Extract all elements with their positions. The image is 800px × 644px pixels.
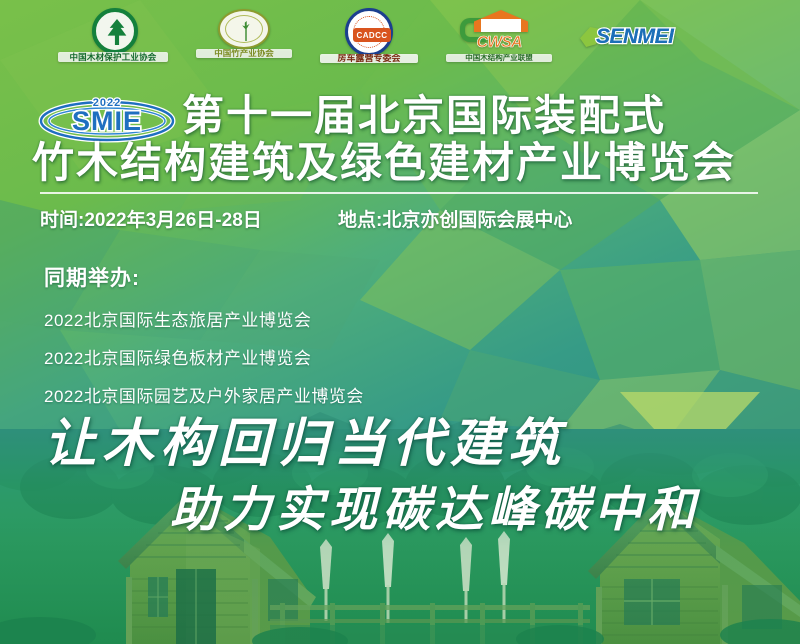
event-venue: 地点:北京亦创国际会展中心 — [338, 205, 572, 232]
logo-4-acronym: CWSA — [446, 34, 552, 52]
slogan-line-1: 让木构回归当代建筑 — [44, 418, 566, 470]
logo-cwsa-wood-structure-alliance: CWSA 中国木结构产业联盟 — [446, 8, 552, 70]
event-meta: 时间:2022年3月26日-28日 地点:北京亦创国际会展中心 — [40, 205, 760, 231]
headline-line-2: 竹木结构建筑及绿色建材产业博览会 — [32, 142, 792, 184]
logo-5-acronym: SENMEI — [596, 25, 674, 49]
poster-canvas: 中国木材保护工业协会 中国竹产业协会 CADCC 房车露营专委会 CWSA 中国… — [0, 0, 800, 644]
logo-senmei: SENMEI SENMEI — [580, 19, 692, 59]
concurrent-event-item: 2022北京国际园艺及户外家居产业博览会 — [44, 382, 564, 407]
logo-china-wood-protection-association: 中国木材保护工业协会 — [58, 8, 168, 70]
headline-divider — [40, 192, 758, 194]
headline-line-1: 第十一届北京国际装配式 — [182, 95, 792, 137]
concurrent-events-title: 同期举办: — [44, 262, 564, 292]
logo-3-acronym: CADCC — [353, 28, 391, 42]
event-date: 时间:2022年3月26日-28日 — [40, 205, 262, 232]
cadcc-roundel-icon: CADCC — [345, 8, 393, 56]
svg-text:SMIE: SMIE — [72, 106, 142, 136]
logo-3-label: 房车露营专委会 — [320, 54, 418, 63]
cwsa-roof-shape — [474, 10, 528, 32]
logo-cadcc-rv-camping-committee: CADCC 房车露营专委会 — [320, 8, 418, 70]
bamboo-oval-emblem-icon — [218, 9, 270, 49]
logo-1-label: 中国木材保护工业协会 — [58, 52, 168, 62]
logo-bamboo-industry-association: 中国竹产业协会 — [196, 9, 292, 69]
concurrent-events: 同期举办: 2022北京国际生态旅居产业博览会 2022北京国际绿色板材产业博览… — [44, 262, 564, 420]
slogan-line-2: 助力实现碳达峰碳中和 — [170, 486, 700, 534]
concurrent-event-item: 2022北京国际绿色板材产业博览会 — [44, 344, 564, 369]
tree-emblem-icon — [92, 8, 138, 54]
logo-4-label: 中国木结构产业联盟 — [446, 54, 552, 62]
smie-brand-mark: 2022 SMIE — [36, 92, 178, 144]
sponsor-logo-strip: 中国木材保护工业协会 中国竹产业协会 CADCC 房车露营专委会 CWSA 中国… — [0, 0, 800, 78]
logo-2-label: 中国竹产业协会 — [196, 49, 292, 58]
concurrent-event-item: 2022北京国际生态旅居产业博览会 — [44, 306, 564, 331]
